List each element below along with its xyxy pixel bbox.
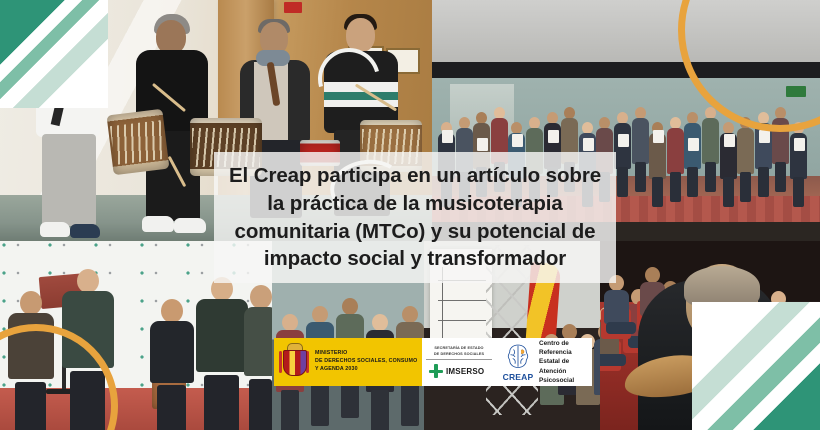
head bbox=[77, 269, 99, 293]
ministerio-line-1: MINISTERIO bbox=[315, 350, 417, 358]
torso bbox=[62, 291, 114, 368]
legs bbox=[723, 177, 734, 207]
person bbox=[244, 285, 272, 429]
choir-member bbox=[737, 117, 754, 200]
legs bbox=[670, 172, 681, 202]
ceiling bbox=[432, 0, 820, 62]
ministerio-line-2: DE DERECHOS SOCIALES, CONSUMO bbox=[315, 358, 417, 366]
drum-lacing bbox=[110, 120, 166, 166]
creap-full-name: Centro de Referencia Estatal de Atención… bbox=[537, 339, 574, 384]
logo-imserso: SECRETARÍA DE ESTADO DE DERECHOS SOCIALE… bbox=[422, 338, 496, 386]
person bbox=[196, 277, 248, 429]
page-title: El Creap participa en un artículo sobre … bbox=[226, 162, 604, 273]
sheet-music bbox=[794, 138, 805, 151]
photo-guitar-circle bbox=[600, 241, 820, 430]
sheet-music bbox=[583, 138, 594, 151]
torso bbox=[244, 307, 272, 376]
sheet-music bbox=[759, 130, 770, 143]
legs bbox=[652, 177, 663, 207]
logo-creap: CREAP Centro de Referencia Estatal de At… bbox=[496, 338, 592, 386]
institutional-logo-strip: MINISTERIO DE DERECHOS SOCIALES, CONSUMO… bbox=[274, 338, 592, 386]
ministerio-label: MINISTERIO DE DERECHOS SOCIALES, CONSUMO… bbox=[315, 350, 417, 374]
legs bbox=[687, 167, 698, 197]
head bbox=[645, 267, 660, 283]
head bbox=[282, 314, 298, 331]
legs bbox=[635, 162, 646, 192]
logo-ministerio-derechos-sociales: MINISTERIO DE DERECHOS SOCIALES, CONSUMO… bbox=[274, 338, 422, 386]
choir-member bbox=[667, 117, 684, 200]
torso bbox=[150, 321, 194, 383]
legs bbox=[311, 382, 329, 426]
creap-acronym: CREAP bbox=[499, 372, 537, 382]
pillar bbox=[279, 351, 282, 373]
legs bbox=[371, 390, 389, 430]
legs bbox=[249, 379, 271, 430]
choir-member bbox=[790, 122, 807, 200]
creap-name-line-1: Centro de bbox=[539, 339, 574, 348]
legs bbox=[204, 375, 238, 430]
shoe bbox=[70, 224, 100, 238]
person bbox=[150, 299, 194, 429]
head bbox=[402, 306, 418, 323]
person bbox=[62, 269, 114, 429]
choir-member bbox=[772, 107, 789, 200]
torso bbox=[772, 118, 789, 164]
legs bbox=[758, 167, 769, 197]
article-banner: El Creap participa en un artículo sobre … bbox=[0, 0, 820, 430]
shield bbox=[283, 350, 307, 376]
head bbox=[20, 291, 42, 315]
cross-bar-vertical bbox=[434, 364, 437, 378]
legs bbox=[606, 322, 636, 334]
choir-member bbox=[614, 112, 631, 200]
sheet-music bbox=[548, 130, 559, 143]
secretaria-estado-label: SECRETARÍA DE ESTADO DE DERECHOS SOCIALE… bbox=[426, 346, 492, 360]
head bbox=[156, 20, 186, 54]
sheet-music bbox=[618, 134, 629, 147]
sheet-music bbox=[688, 138, 699, 151]
creap-name-line-5: Psicosocial bbox=[539, 376, 574, 385]
legs bbox=[157, 385, 186, 430]
ceiling-beam bbox=[432, 62, 820, 78]
head bbox=[342, 298, 358, 315]
shoe bbox=[174, 218, 206, 233]
torso bbox=[702, 118, 719, 164]
shoe bbox=[40, 222, 70, 237]
red-sign-icon bbox=[284, 2, 302, 13]
legs bbox=[793, 177, 804, 207]
coat-of-arms-icon bbox=[279, 343, 309, 381]
choir-member bbox=[632, 107, 649, 200]
head bbox=[312, 306, 328, 323]
creap-name-line-3: Estatal de bbox=[539, 357, 574, 366]
head bbox=[161, 299, 183, 323]
secretaria-line-1: SECRETARÍA DE ESTADO bbox=[426, 346, 492, 352]
legs bbox=[281, 390, 299, 430]
legs bbox=[401, 382, 419, 426]
person-drummer-white-shirt bbox=[28, 26, 116, 241]
person bbox=[8, 291, 54, 429]
imserso-wordmark: IMSERSO bbox=[446, 367, 484, 376]
sheet-music bbox=[724, 134, 735, 147]
brain-icon: CREAP bbox=[499, 342, 537, 382]
legs bbox=[775, 162, 786, 192]
torso bbox=[8, 313, 54, 379]
secretaria-line-2: DE DERECHOS SOCIALES bbox=[426, 352, 492, 358]
legs bbox=[705, 162, 716, 192]
shoe bbox=[142, 216, 174, 232]
drum-instrument bbox=[107, 109, 170, 175]
sheet-music bbox=[653, 130, 664, 143]
sheet-music bbox=[477, 138, 488, 151]
torso bbox=[604, 290, 629, 324]
headline-overlay: El Creap participa en un artículo sobre … bbox=[214, 152, 616, 283]
head bbox=[250, 285, 272, 309]
imserso-cross-icon bbox=[429, 364, 443, 378]
head bbox=[52, 26, 82, 62]
choir-member bbox=[684, 112, 701, 200]
legs bbox=[70, 371, 104, 430]
legs bbox=[600, 354, 626, 366]
torso bbox=[667, 128, 684, 174]
sheet-music bbox=[442, 130, 453, 143]
legs bbox=[617, 167, 628, 197]
head bbox=[771, 291, 786, 307]
sheet-music bbox=[512, 134, 523, 147]
creap-name-line-2: Referencia bbox=[539, 348, 574, 357]
choir-member bbox=[702, 107, 719, 200]
torso bbox=[632, 118, 649, 164]
imserso-row: IMSERSO bbox=[426, 364, 492, 378]
head bbox=[372, 314, 388, 331]
legs bbox=[42, 134, 96, 226]
torso bbox=[196, 299, 248, 372]
choir-member bbox=[755, 112, 772, 200]
foreground-person-hair bbox=[684, 266, 760, 308]
creap-name-line-4: Atención bbox=[539, 367, 574, 376]
ministerio-line-3: Y AGENDA 2030 bbox=[315, 366, 417, 374]
legs bbox=[15, 382, 45, 430]
torso bbox=[737, 128, 754, 174]
legs bbox=[740, 172, 751, 202]
